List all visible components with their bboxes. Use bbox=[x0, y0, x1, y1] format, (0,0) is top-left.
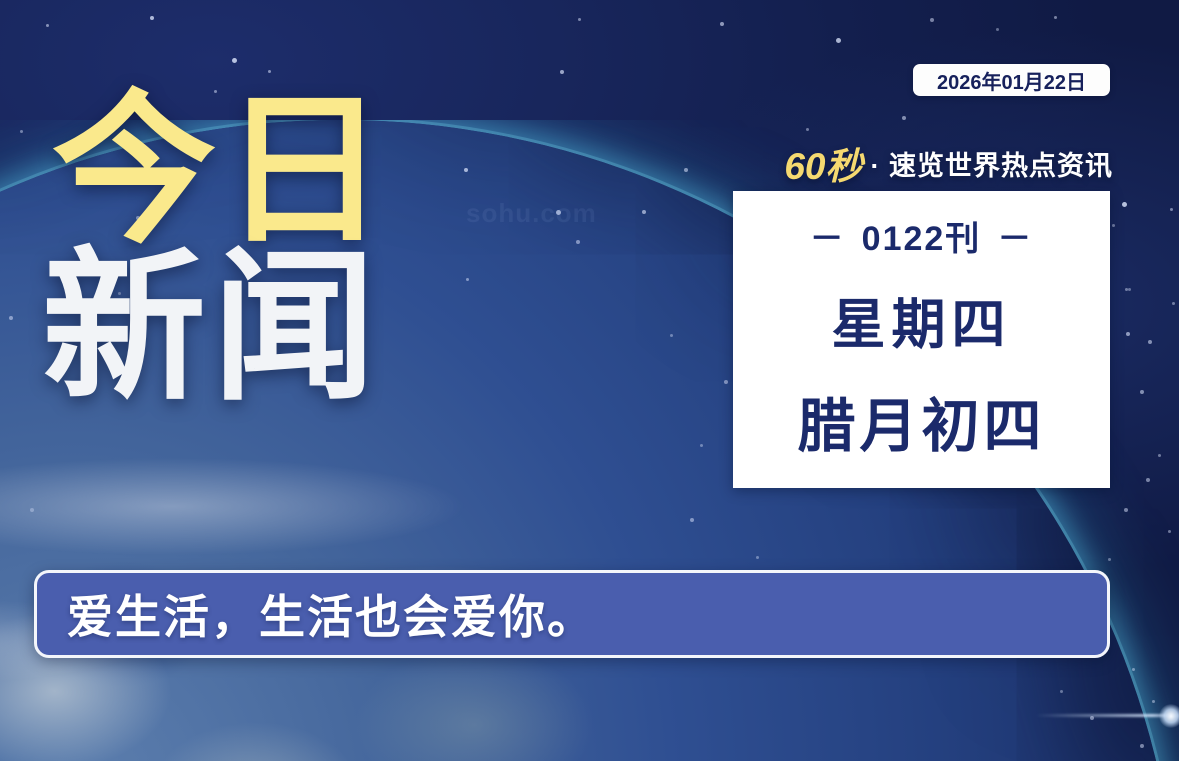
issue-card: － 0122刊 － 星期四 腊月初四 bbox=[733, 191, 1110, 488]
tagline-highlight: 60秒 bbox=[784, 136, 862, 190]
date-badge: 2026年01月22日 bbox=[913, 64, 1110, 96]
news-poster: sohu.com 今日 新闻 2026年01月22日 60秒 · 速览世界热点资… bbox=[0, 0, 1179, 761]
slogan-bar: 爱生活，生活也会爱你。 bbox=[34, 570, 1110, 658]
watermark: sohu.com bbox=[466, 198, 597, 229]
issue-row: － 0122刊 － bbox=[810, 211, 1034, 260]
issue-dash-left: － bbox=[810, 211, 846, 260]
lunar-date-label: 腊月初四 bbox=[797, 379, 1045, 463]
page-title: 今日 新闻 bbox=[52, 92, 392, 407]
date-badge-label: 2026年01月22日 bbox=[937, 66, 1086, 95]
tagline: 60秒 · 速览世界热点资讯 bbox=[733, 141, 1113, 185]
weekday-label: 星期四 bbox=[832, 280, 1012, 359]
issue-dash-right: － bbox=[997, 211, 1033, 260]
brand-line-1: 今日 bbox=[52, 92, 392, 249]
brand-line-2: 新闻 bbox=[42, 249, 392, 406]
slogan-text: 爱生活，生活也会爱你。 bbox=[67, 581, 595, 647]
tagline-rest: · 速览世界热点资讯 bbox=[871, 144, 1114, 183]
issue-number-label: 0122刊 bbox=[862, 211, 982, 260]
